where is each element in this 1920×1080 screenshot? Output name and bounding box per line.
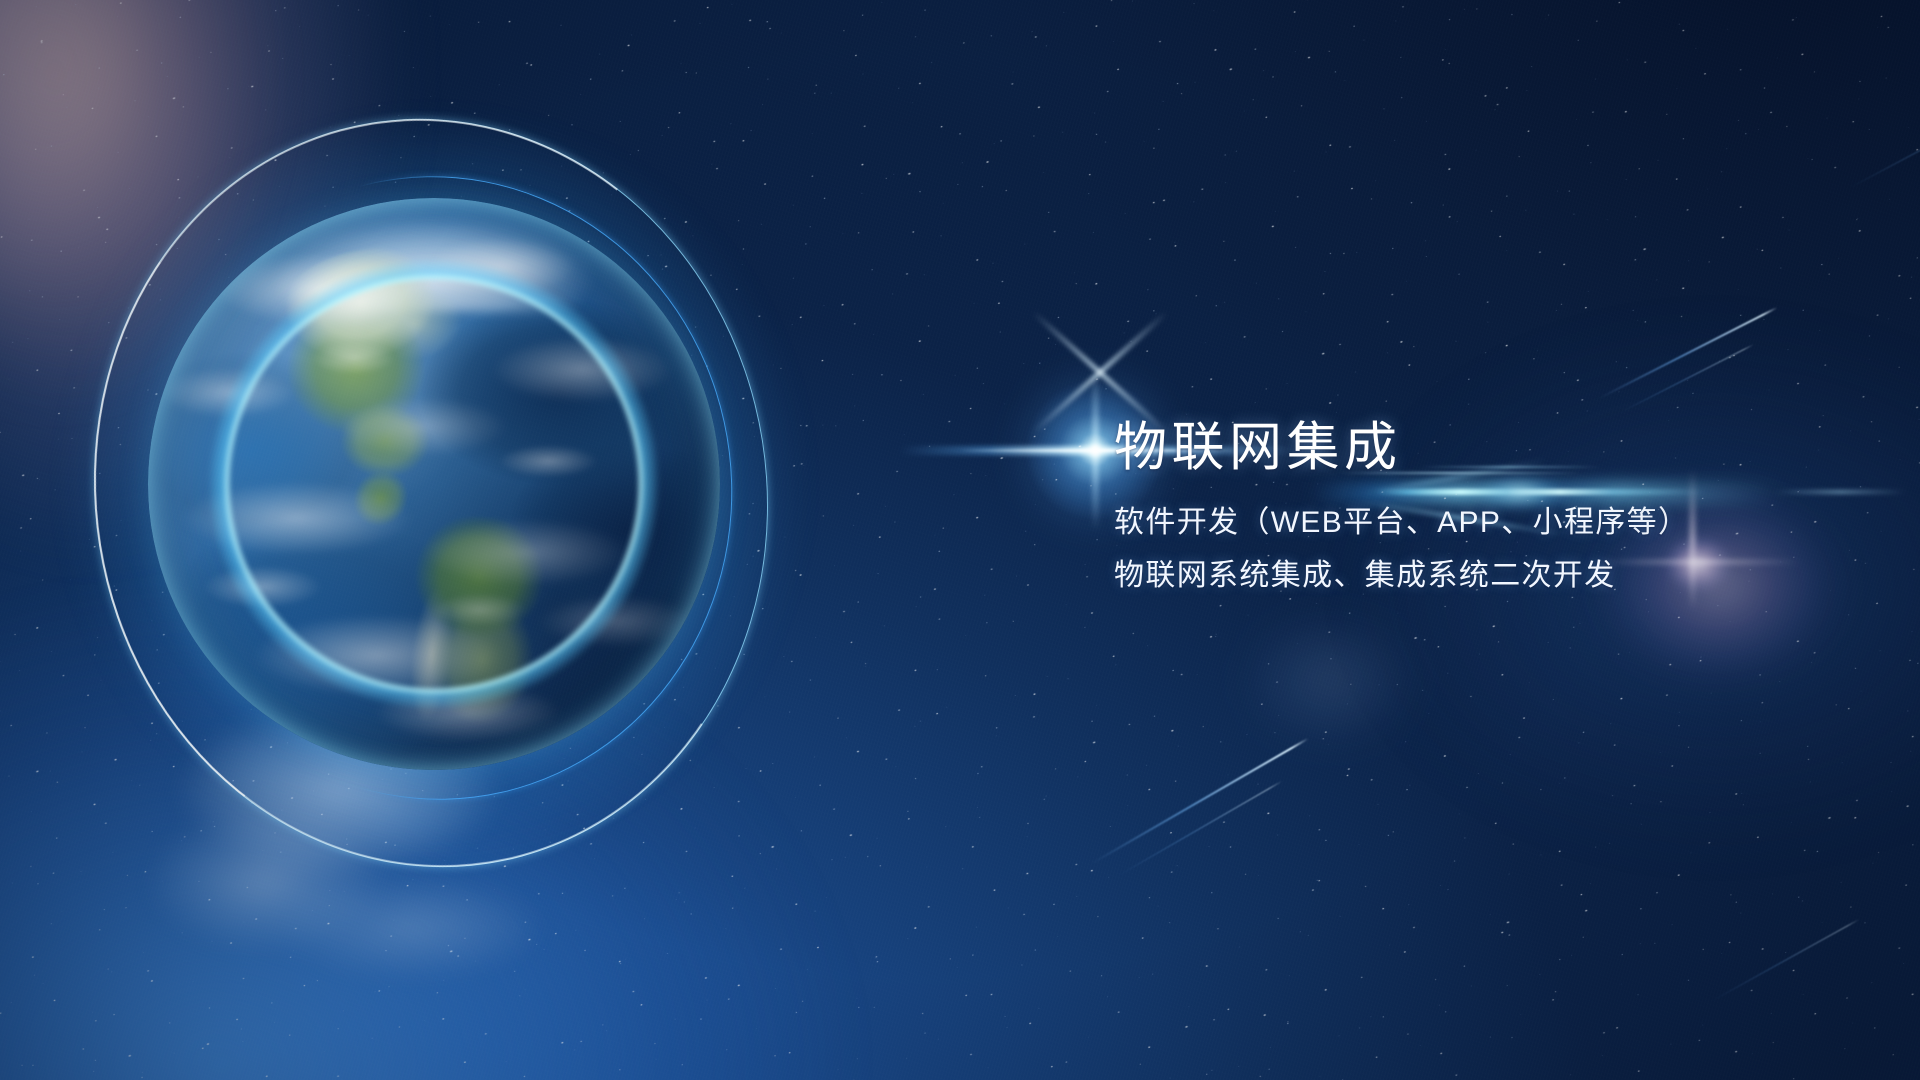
globe-cloud-layer-2 (148, 198, 720, 770)
banner-stage: 物联网集成 软件开发（WEB平台、APP、小程序等） 物联网系统集成、集成系统二… (0, 0, 1920, 1080)
page-title: 物联网集成 (1114, 418, 1854, 477)
banner-subtitle-line-2: 物联网系统集成、集成系统二次开发 (1114, 556, 1854, 596)
earth-globe (148, 198, 720, 770)
globe-sphere (148, 198, 720, 770)
banner-subtitle-line-1: 软件开发（WEB平台、APP、小程序等） (1114, 503, 1854, 543)
banner-subtitle-group: 软件开发（WEB平台、APP、小程序等） 物联网系统集成、集成系统二次开发 (1114, 503, 1854, 595)
banner-copy: 物联网集成 软件开发（WEB平台、APP、小程序等） 物联网系统集成、集成系统二… (1114, 418, 1854, 596)
